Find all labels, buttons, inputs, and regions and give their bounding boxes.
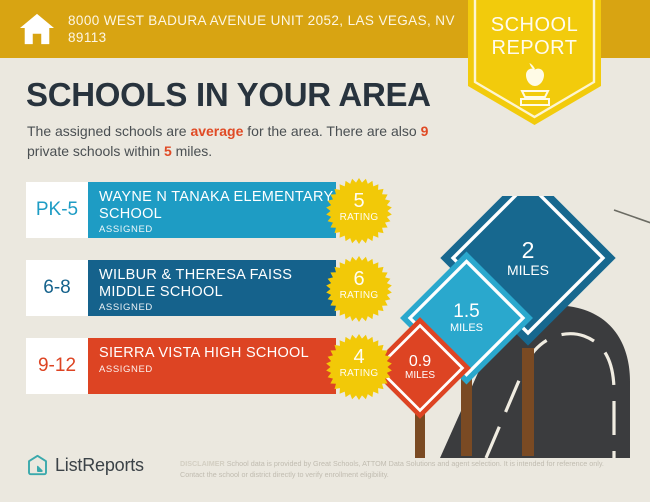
school-report-badge: SCHOOL REPORT [468,0,601,125]
assigned-label: ASSIGNED [99,224,336,235]
disclaimer-body: School data is provided by Great Schools… [180,459,604,479]
page-title: SCHOOLS IN YOUR AREA [26,76,431,114]
disclaimer-text: DISCLAIMER School data is provided by Gr… [180,458,620,480]
badge-line-2: REPORT [468,37,601,60]
badge-line-1: SCHOOL [468,14,601,37]
school-name: WILBUR & THERESA FAISS MIDDLE SCHOOL [99,267,336,300]
school-info: WILBUR & THERESA FAISS MIDDLE SCHOOL ASS… [88,260,336,316]
summary-radius-miles: 5 [164,143,172,159]
grade-badge: 9-12 [26,338,88,394]
school-name: WAYNE N TANAKA ELEMENTARY SCHOOL [99,189,336,222]
rating-value: 5 [326,191,392,211]
distance-illustration: 0.9 MILES 1.5 MILES 2 MILES [378,196,650,458]
assigned-label: ASSIGNED [99,364,336,375]
school-name: SIERRA VISTA HIGH SCHOOL [99,345,336,362]
rating-caption: RATING [326,212,392,223]
grade-badge: 6-8 [26,260,88,316]
book-icon [521,91,549,105]
assigned-label: ASSIGNED [99,302,336,313]
wire-line [614,210,650,224]
property-address: 8000 WEST BADURA AVENUE UNIT 2052, LAS V… [68,12,468,46]
badge-icon-group [468,62,601,113]
disclaimer-label: DISCLAIMER [180,459,225,468]
rating-starburst: 4 RATING [326,334,392,400]
rating-starburst: 5 RATING [326,178,392,244]
summary-private-count: 9 [421,123,429,139]
logo-text: ListReports [55,455,144,476]
apple-and-book-icon [509,62,561,108]
apple-icon [526,63,544,86]
home-icon [18,12,56,46]
summary-part-1: The assigned schools are [27,123,190,139]
grade-badge: PK-5 [26,182,88,238]
road-graphic [378,196,650,458]
table-row[interactable]: PK-5 WAYNE N TANAKA ELEMENTARY SCHOOL AS… [26,182,336,238]
house-tag-icon [27,454,48,476]
summary-part-2: for the area. There are also [243,123,420,139]
table-row[interactable]: 6-8 WILBUR & THERESA FAISS MIDDLE SCHOOL… [26,260,336,316]
school-list: PK-5 WAYNE N TANAKA ELEMENTARY SCHOOL AS… [26,182,336,416]
summary-rating-word: average [190,123,243,139]
badge-title: SCHOOL REPORT [468,14,601,60]
summary-part-4: miles. [172,143,212,159]
grade-label: PK-5 [36,199,78,221]
rating-starburst: 6 RATING [326,256,392,322]
summary-text: The assigned schools are average for the… [27,122,447,161]
grade-label: 9-12 [38,355,76,377]
footer: ListReports DISCLAIMER School data is pr… [0,442,650,502]
summary-part-3: private schools within [27,143,164,159]
rating-value: 6 [326,269,392,289]
rating-caption: RATING [326,290,392,301]
grade-label: 6-8 [43,277,70,299]
table-row[interactable]: 9-12 SIERRA VISTA HIGH SCHOOL ASSIGNED 4… [26,338,336,394]
school-info: SIERRA VISTA HIGH SCHOOL ASSIGNED [88,338,336,394]
rating-caption: RATING [326,368,392,379]
school-info: WAYNE N TANAKA ELEMENTARY SCHOOL ASSIGNE… [88,182,336,238]
listreports-logo[interactable]: ListReports [27,454,144,476]
rating-value: 4 [326,347,392,367]
